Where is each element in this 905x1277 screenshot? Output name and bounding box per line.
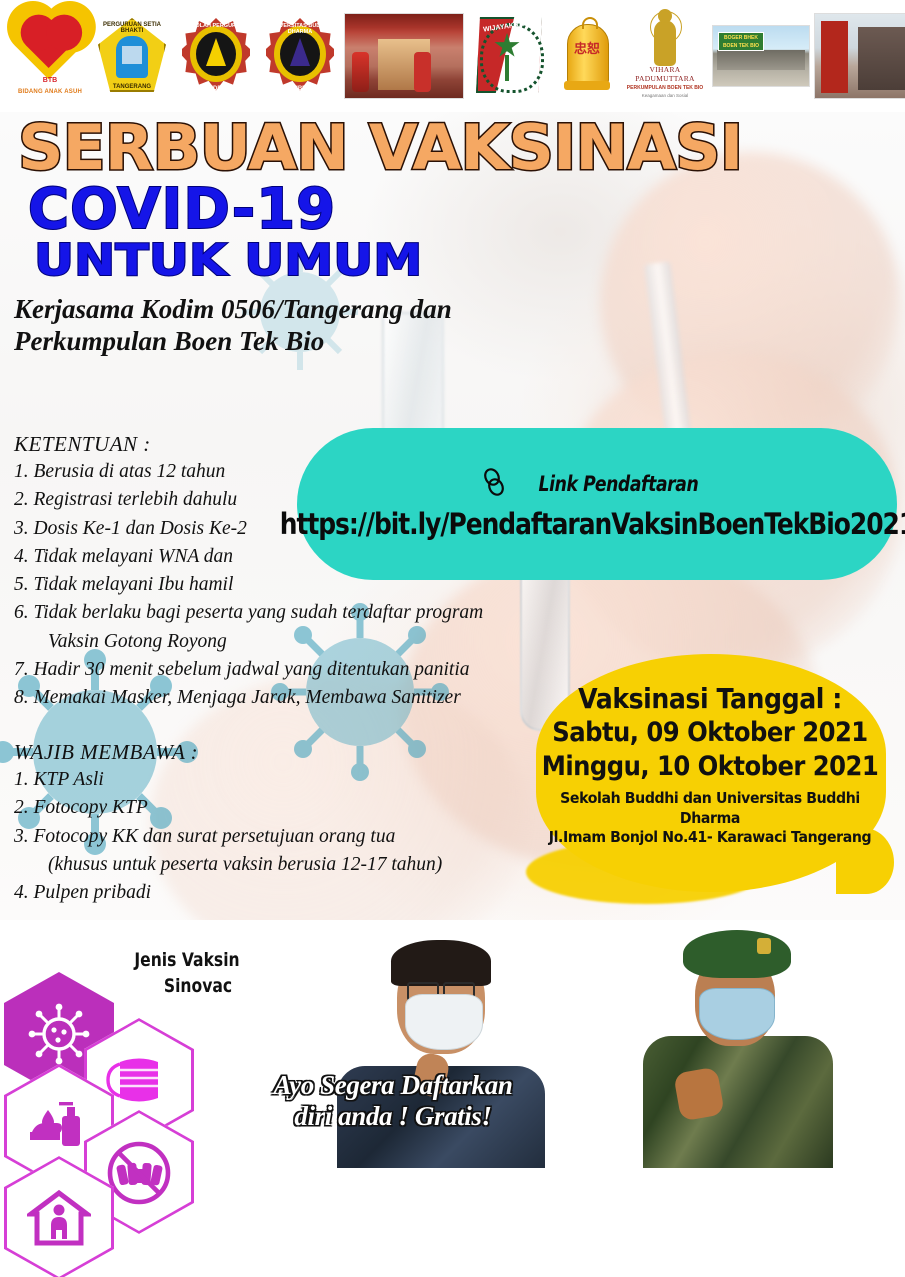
schedule-address: Jl.Imam Bonjol No.41- Karawaci Tangerang	[531, 828, 888, 848]
bell-chinese-characters: 忠恕	[570, 38, 604, 57]
temple-gate-photo	[814, 13, 905, 99]
requirements-item-continuation: (khusus untuk peserta vaksin berusia 12-…	[14, 851, 534, 879]
buddhi-bottom-label: BUDDHI	[176, 86, 256, 92]
schedule-venue: Sekolah Buddhi dan Universitas Buddhi Dh…	[531, 789, 888, 828]
ubd-bottom-label: UBD	[260, 86, 340, 92]
chain-link-icon	[479, 468, 509, 501]
registration-heading-row: Link Pendaftaran	[479, 468, 716, 501]
requirements-list: 1. KTP Asli 2. Fotocopy KTP 3. Fotocopy …	[14, 766, 534, 907]
setia-bhakti-top-label: PERGURUAN SETIA BHAKTI	[98, 22, 166, 34]
vihara-padumuttara-logo: VIHARA PADUMUTTARA PERKUMPULAN BOEN TEK …	[622, 12, 708, 100]
golden-bell-logo: 忠恕	[556, 14, 618, 98]
requirements-section: WAJIB MEMBAWA : 1. KTP Asli 2. Fotocopy …	[14, 740, 534, 907]
health-protocol-hexagons	[0, 972, 236, 1262]
requirements-title: WAJIB MEMBAWA :	[14, 740, 534, 765]
requirements-item: 1. KTP Asli	[14, 766, 534, 794]
requirements-item: 4. Pulpen pribadi	[14, 879, 534, 907]
cta-line2: diri anda ! Gratis!	[228, 1101, 558, 1132]
sekolah-perguruan-buddhi-logo: SEKOLAH PERGURUAN BUDDHI	[176, 14, 256, 98]
headline-collaboration-line1: Kerjasama Kodim 0506/Tangerang dan	[14, 294, 905, 326]
terms-item: 7. Hadir 30 menit sebelum jadwal yang di…	[14, 656, 554, 684]
perguruan-setia-bhakti-tangerang-logo: PERGURUAN SETIA BHAKTI TANGERANG	[92, 14, 172, 98]
registration-url[interactable]: https://bit.ly/PendaftaranVaksinBoenTekB…	[279, 507, 905, 541]
headline-serbuan-vaksinasi: SERBUAN VAKSINASI	[18, 118, 905, 178]
call-to-action: Ayo Segera Daftarkan diri anda ! Gratis!	[228, 1070, 558, 1132]
schedule-bubble: Vaksinasi Tanggal : Sabtu, 09 Oktober 20…	[520, 648, 900, 920]
organization-logos-strip: BTB BIDANG ANAK ASUH PERGURUAN SETIA BHA…	[0, 0, 905, 112]
poster-headline: SERBUAN VAKSINASI COVID-19 UNTUK UMUM Ke…	[0, 112, 905, 357]
military-officer-portrait-photo	[633, 918, 838, 1168]
boen-tek-bio-building-photo: BOGER BHEK BOEN TEK BIO	[712, 25, 810, 87]
vihara-org: PERKUMPULAN BOEN TEK BIO	[622, 85, 708, 91]
requirements-item: 3. Fotocopy KK dan surat persetujuan ora…	[14, 823, 534, 851]
headline-untuk-umum: UNTUK UMUM	[34, 238, 905, 284]
schedule-date-saturday: Sabtu, 09 Oktober 2021	[539, 716, 881, 749]
schedule-title: Vaksinasi Tanggal :	[539, 682, 881, 716]
cta-line1: Ayo Segera Daftarkan	[228, 1070, 558, 1101]
btb-logo-title: BTB	[12, 77, 88, 84]
terms-item: 6. Tidak berlaku bagi peserta yang sudah…	[14, 599, 554, 627]
btb-bidang-anak-asuh-logo: BTB BIDANG ANAK ASUH	[12, 16, 88, 96]
schedule-date-sunday: Minggu, 10 Oktober 2021	[539, 750, 881, 783]
vihara-name: VIHARA PADUMUTTARA	[622, 65, 708, 83]
universitas-buddhi-dharma-logo: UNIVERSITAS BUDDHI DHARMA UBD	[260, 14, 340, 98]
building-sign-text: BOGER BHEK BOEN TEK BIO	[719, 33, 763, 50]
registration-link-box[interactable]: Link Pendaftaran https://bit.ly/Pendafta…	[297, 428, 897, 580]
ubd-top-label: UNIVERSITAS BUDDHI DHARMA	[260, 23, 340, 35]
registration-heading: Link Pendaftaran	[538, 472, 698, 496]
buddhi-top-label: SEKOLAH PERGURUAN	[176, 23, 256, 29]
setia-bhakti-bottom-label: TANGERANG	[98, 84, 166, 90]
building-signboard: BOGER BHEK BOEN TEK BIO	[718, 32, 764, 51]
vaccine-label-line2: Sinovac	[129, 974, 267, 1000]
headline-covid19: COVID-19	[28, 182, 905, 238]
btb-logo-subtitle: BIDANG ANAK ASUH	[12, 89, 88, 95]
terms-item: 8. Memakai Masker, Menjaga Jarak, Membaw…	[14, 684, 554, 712]
requirements-item: 2. Fotocopy KTP	[14, 794, 534, 822]
schedule-content: Vaksinasi Tanggal : Sabtu, 09 Oktober 20…	[520, 682, 900, 848]
vaccination-poster: BTB BIDANG ANAK ASUH PERGURUAN SETIA BHA…	[0, 0, 905, 1277]
vaccine-type-label: Jenis Vaksin Sinovac	[92, 948, 282, 999]
terms-item-continuation: Vaksin Gotong Royong	[14, 628, 554, 656]
wijayakrama-shield-logo: WIJAYAKRAMA	[468, 13, 552, 99]
vaccine-label-line1: Jenis Vaksin	[109, 948, 265, 974]
headline-collaboration-line2: Perkumpulan Boen Tek Bio	[14, 326, 905, 358]
temple-interior-photo	[344, 13, 464, 99]
vihara-tagline: Keagamaan dan Sosial	[622, 93, 708, 98]
